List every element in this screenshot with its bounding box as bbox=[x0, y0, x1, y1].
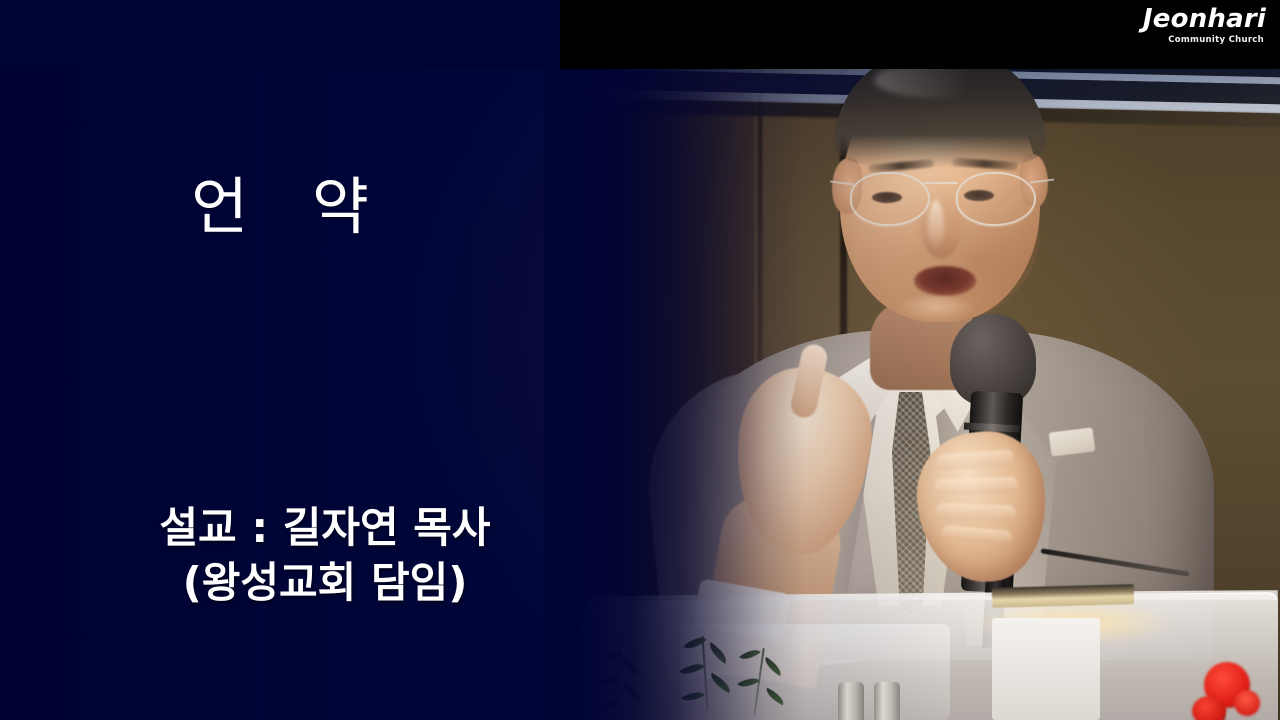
presentation-slide: Jeonhari Community Church 언 약 설교 : 길자연 목… bbox=[0, 0, 1280, 720]
photo-left-fade bbox=[544, 0, 804, 720]
chin-highlight bbox=[896, 296, 976, 322]
finger-2 bbox=[934, 477, 1019, 496]
eyeglasses bbox=[844, 172, 1040, 228]
mouth bbox=[914, 266, 976, 296]
top-band-navy-section bbox=[0, 0, 560, 69]
paper-sheet bbox=[992, 618, 1100, 720]
logo-tagline: Community Church bbox=[1143, 36, 1264, 45]
speaker-photo bbox=[544, 0, 1280, 720]
photo-content bbox=[544, 0, 1280, 720]
subtitle-line-church: (왕성교회 담임) bbox=[0, 555, 650, 610]
subtitle-line-preacher: 설교 : 길자연 목사 bbox=[0, 500, 650, 555]
finger-3 bbox=[936, 503, 1017, 522]
glasses-bridge bbox=[924, 182, 958, 184]
carnation-3 bbox=[1234, 690, 1260, 716]
slide-title: 언 약 bbox=[0, 172, 560, 241]
church-logo: Jeonhari Community Church bbox=[1143, 6, 1266, 45]
metal-cylinder-right bbox=[874, 682, 900, 720]
lens-right bbox=[956, 172, 1036, 226]
open-bible bbox=[992, 584, 1134, 608]
carnation-2 bbox=[1192, 696, 1226, 720]
lens-left bbox=[850, 172, 930, 226]
slide-subtitle: 설교 : 길자연 목사 (왕성교회 담임) bbox=[0, 500, 650, 611]
logo-wordmark: Jeonhari bbox=[1143, 6, 1266, 32]
metal-cylinder-left bbox=[838, 682, 864, 720]
